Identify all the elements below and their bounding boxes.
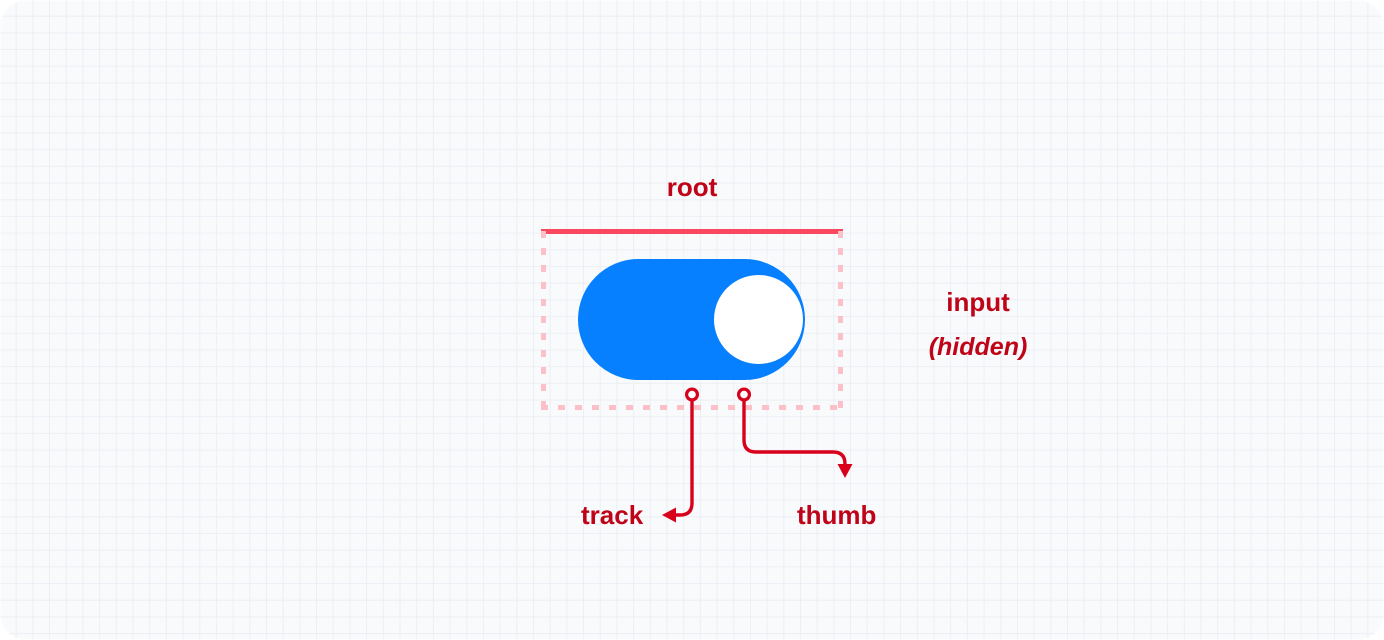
label-track: track bbox=[581, 502, 643, 528]
label-thumb: thumb bbox=[797, 502, 876, 528]
label-root: root bbox=[541, 174, 843, 200]
track-leader-arrowhead bbox=[662, 508, 676, 523]
track-anchor-dot bbox=[687, 389, 698, 400]
label-input: input bbox=[880, 286, 1076, 319]
track-leader-line bbox=[672, 400, 692, 515]
switch-root[interactable] bbox=[578, 259, 805, 380]
anatomy-diagram-canvas: root track thumb input (hidden) bbox=[0, 0, 1384, 640]
thumb-anchor-dot bbox=[739, 389, 750, 400]
label-input-group: input (hidden) bbox=[880, 286, 1076, 363]
thumb-leader-line bbox=[744, 400, 845, 466]
label-input-hidden-note: (hidden) bbox=[880, 332, 1076, 363]
thumb-leader-arrowhead bbox=[838, 464, 853, 478]
